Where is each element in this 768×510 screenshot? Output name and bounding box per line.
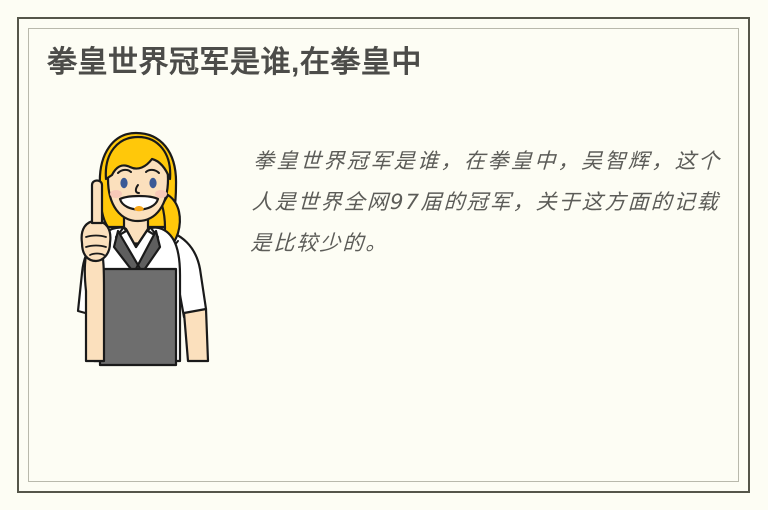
index-finger — [92, 181, 102, 224]
article-body-block: 拳皇世界冠军是谁，在拳皇中，吴智辉，这个人是世界全网97届的冠军，关于这方面的记… — [254, 141, 728, 264]
right-eye — [149, 178, 156, 188]
left-cheek — [110, 190, 122, 198]
apron-body — [100, 269, 176, 365]
right-cheek — [155, 190, 167, 198]
left-eye — [120, 178, 127, 188]
fist — [82, 221, 111, 261]
cartoon-woman-pointing-up-illustration — [56, 123, 216, 373]
article-content-row: 拳皇世界冠军是谁，在拳皇中，吴智辉，这个人是世界全网97届的冠军，关于这方面的记… — [40, 115, 728, 490]
article-body-paragraph: 拳皇世界冠军是谁，在拳皇中，吴智辉，这个人是世界全网97届的冠军，关于这方面的记… — [250, 141, 722, 264]
cartoon-woman-svg — [56, 123, 216, 373]
right-forearm — [184, 309, 208, 361]
page-title: 拳皇世界冠军是谁,在拳皇中 — [47, 43, 728, 83]
